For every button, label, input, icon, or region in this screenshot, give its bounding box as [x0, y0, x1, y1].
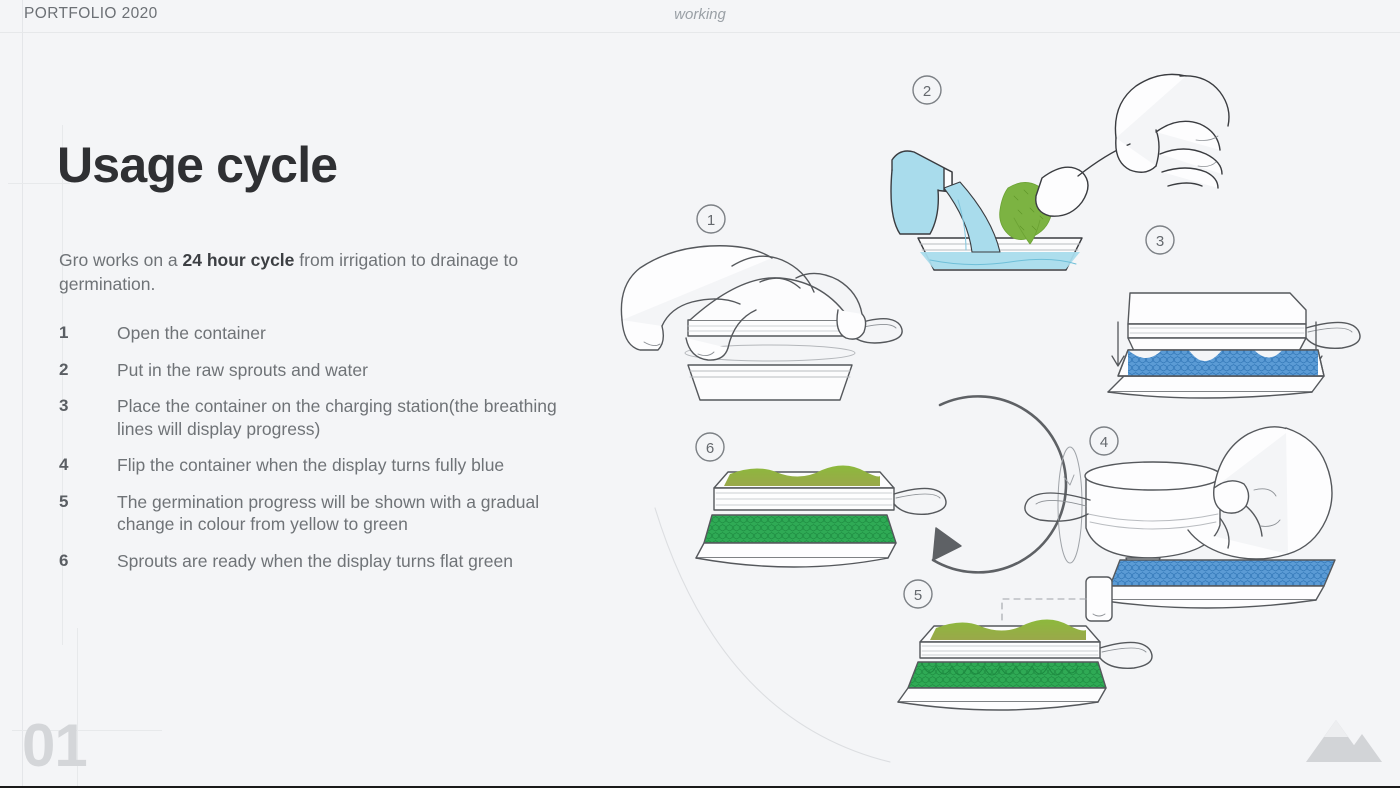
step-label: Sprouts are ready when the display turns… [117, 550, 579, 573]
page-number: 01 [22, 716, 87, 776]
list-item: 1 Open the container [59, 322, 579, 345]
intro-text-highlight: 24 hour cycle [183, 250, 295, 270]
svg-text:3: 3 [1156, 233, 1164, 250]
step-number: 6 [59, 550, 117, 573]
step-label: Place the container on the charging stat… [117, 395, 579, 440]
step-label: The germination progress will be shown w… [117, 491, 579, 536]
intro-paragraph: Gro works on a 24 hour cycle from irriga… [59, 248, 579, 296]
step-number: 5 [59, 491, 117, 536]
page-title: Usage cycle [57, 136, 337, 194]
list-item: 6 Sprouts are ready when the display tur… [59, 550, 579, 573]
step-4-illustration: 4 [1025, 427, 1335, 608]
svg-text:6: 6 [706, 440, 714, 457]
list-item: 3 Place the container on the charging st… [59, 395, 579, 440]
svg-text:5: 5 [914, 587, 922, 604]
list-item: 4 Flip the container when the display tu… [59, 454, 579, 477]
step-number: 1 [59, 322, 117, 345]
step-2-illustration: 2 [891, 74, 1229, 270]
step-3-illustration: 3 [1108, 226, 1360, 398]
step-number: 2 [59, 359, 117, 382]
steps-list: 1 Open the container 2 Put in the raw sp… [59, 322, 579, 586]
step-label: Put in the raw sprouts and water [117, 359, 579, 382]
step-label: Flip the container when the display turn… [117, 454, 579, 477]
cycle-arrow-icon [933, 396, 1066, 572]
intro-text-before: Gro works on a [59, 250, 183, 270]
list-item: 2 Put in the raw sprouts and water [59, 359, 579, 382]
grid-guide-vertical-left [22, 0, 23, 788]
step-number: 3 [59, 395, 117, 440]
svg-text:2: 2 [923, 83, 931, 100]
svg-text:4: 4 [1100, 434, 1108, 451]
slide-root: PORTFOLIO 2020 working Usage cycle Gro w… [0, 0, 1400, 788]
svg-text:1: 1 [707, 212, 715, 229]
step-6-illustration: 6 [696, 433, 946, 567]
step-label: Open the container [117, 322, 579, 345]
usage-cycle-illustration: 1 [600, 20, 1400, 780]
list-item: 5 The germination progress will be shown… [59, 491, 579, 536]
step-number: 4 [59, 454, 117, 477]
step-1-illustration: 1 [621, 205, 902, 400]
